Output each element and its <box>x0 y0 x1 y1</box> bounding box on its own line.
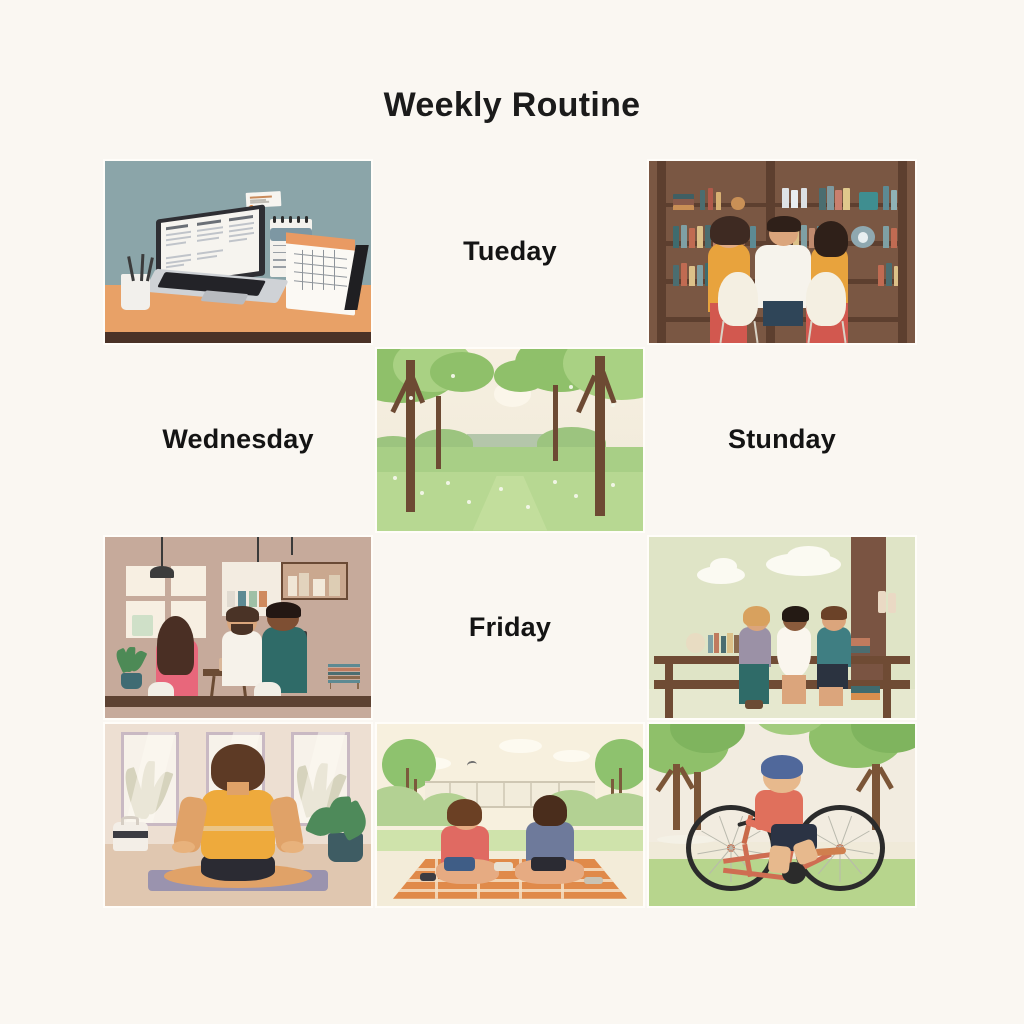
day-label-friday: Friday <box>469 612 551 643</box>
chair-left <box>718 272 758 327</box>
yoga-top <box>201 790 275 859</box>
routine-grid: Tueday <box>103 159 917 908</box>
person-center-body <box>755 245 811 309</box>
person-woman-hair <box>157 616 194 674</box>
cafe-counter-floor <box>105 696 371 707</box>
day-cell-tuesday[interactable]: Tueday <box>375 159 645 345</box>
day-cell-friday[interactable]: Friday <box>375 535 645 721</box>
wall-shelf-box <box>281 562 349 601</box>
tree-trunk-left <box>673 764 680 829</box>
person-3-legs <box>817 664 849 689</box>
person-left-hair <box>710 216 750 245</box>
person-man-beard-body <box>222 631 262 686</box>
rider-leg-front <box>767 845 791 874</box>
bench-lantern <box>686 633 705 653</box>
desk-workspace-illustration[interactable] <box>103 159 373 345</box>
park-landscape-illustration[interactable] <box>375 347 645 533</box>
person-2-legs <box>782 675 806 704</box>
neck <box>227 782 248 795</box>
weekly-routine-collage: Weekly Routine <box>0 0 1024 1024</box>
cycling-in-park-illustration[interactable] <box>647 722 917 908</box>
person-right-hair <box>814 221 849 257</box>
day-label-tuesday: Tueday <box>463 236 557 267</box>
yoga-meditation-illustration[interactable] <box>103 722 373 908</box>
person-2-body <box>777 627 812 678</box>
person-center-legs <box>763 301 803 326</box>
person-1-legs <box>739 664 768 704</box>
desk-scene <box>105 161 371 343</box>
pendant-lamp-left <box>150 566 174 579</box>
floor-plant <box>116 649 148 689</box>
park-scene <box>377 349 643 531</box>
day-cell-stunday[interactable]: Stunday <box>647 347 917 533</box>
cafe-scene <box>105 537 371 719</box>
gym-bag <box>113 822 148 851</box>
picnic-item <box>494 862 513 871</box>
picnic-in-park-illustration[interactable] <box>375 722 645 908</box>
beard <box>231 624 252 635</box>
window-plant <box>132 615 153 637</box>
day-label-stunday: Stunday <box>728 424 836 455</box>
cycling-scene <box>649 724 915 906</box>
library-book-club-illustration[interactable] <box>647 159 917 345</box>
picnic-scene <box>377 724 643 906</box>
day-label-wednesday: Wednesday <box>162 424 313 455</box>
person-1-body <box>739 627 771 667</box>
bench-scene <box>649 537 915 719</box>
library-scene <box>649 161 915 343</box>
book-stack <box>328 660 360 689</box>
day-cell-wednesday[interactable]: Wednesday <box>103 347 373 533</box>
chair-right <box>806 272 846 327</box>
cafe-conversation-illustration[interactable] <box>103 535 373 721</box>
page-title: Weekly Routine <box>0 86 1024 125</box>
yoga-scene <box>105 724 371 906</box>
person-3-body <box>817 627 852 667</box>
bike-helmet-icon <box>761 755 804 779</box>
desk-edge <box>105 332 371 343</box>
outdoor-bench-group-illustration[interactable] <box>647 535 917 721</box>
person-center-hair <box>767 216 800 232</box>
shorts <box>201 855 275 880</box>
